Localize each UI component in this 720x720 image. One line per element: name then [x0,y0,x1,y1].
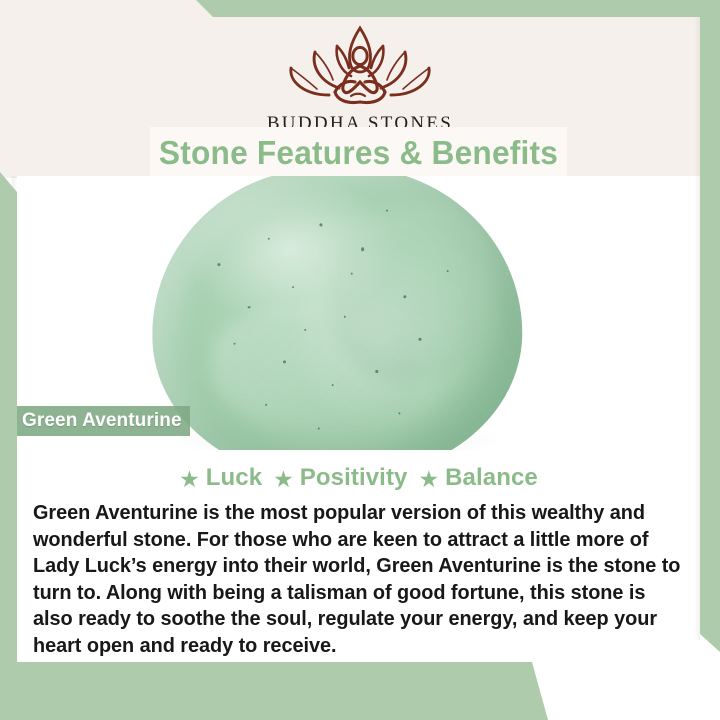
lotus-meditation-icon [275,22,445,110]
benefits-list: ★ Luck ★ Positivity ★ Balance [17,464,700,492]
frame-right-bar [700,0,720,652]
star-icon: ★ [418,468,439,491]
green-aventurine-stone [148,176,526,450]
frame-left-bar [0,172,17,684]
frame-bottom-bar [0,662,720,720]
stone-features-infographic: BUDDHA STONES Stone Features & Benefits [0,0,720,720]
benefit-item: ★ Balance [418,464,537,492]
benefit-item: ★ Positivity [273,464,407,492]
header-corner-notch [0,0,214,18]
stone-name-label: Green Aventurine [22,406,182,436]
brand-logo: BUDDHA STONES [0,22,720,135]
stone-facet-highlight-right [327,201,502,384]
page-title: Stone Features & Benefits [158,127,558,178]
star-icon: ★ [179,468,200,491]
frame-right-shadow [694,0,700,640]
benefit-item: ★ Luck [179,464,262,492]
benefit-label: Positivity [300,464,408,492]
benefit-label: Balance [445,464,538,492]
benefit-label: Luck [206,464,262,492]
star-icon: ★ [273,468,294,491]
stone-description-text: Green Aventurine is the most popular ver… [33,500,687,660]
